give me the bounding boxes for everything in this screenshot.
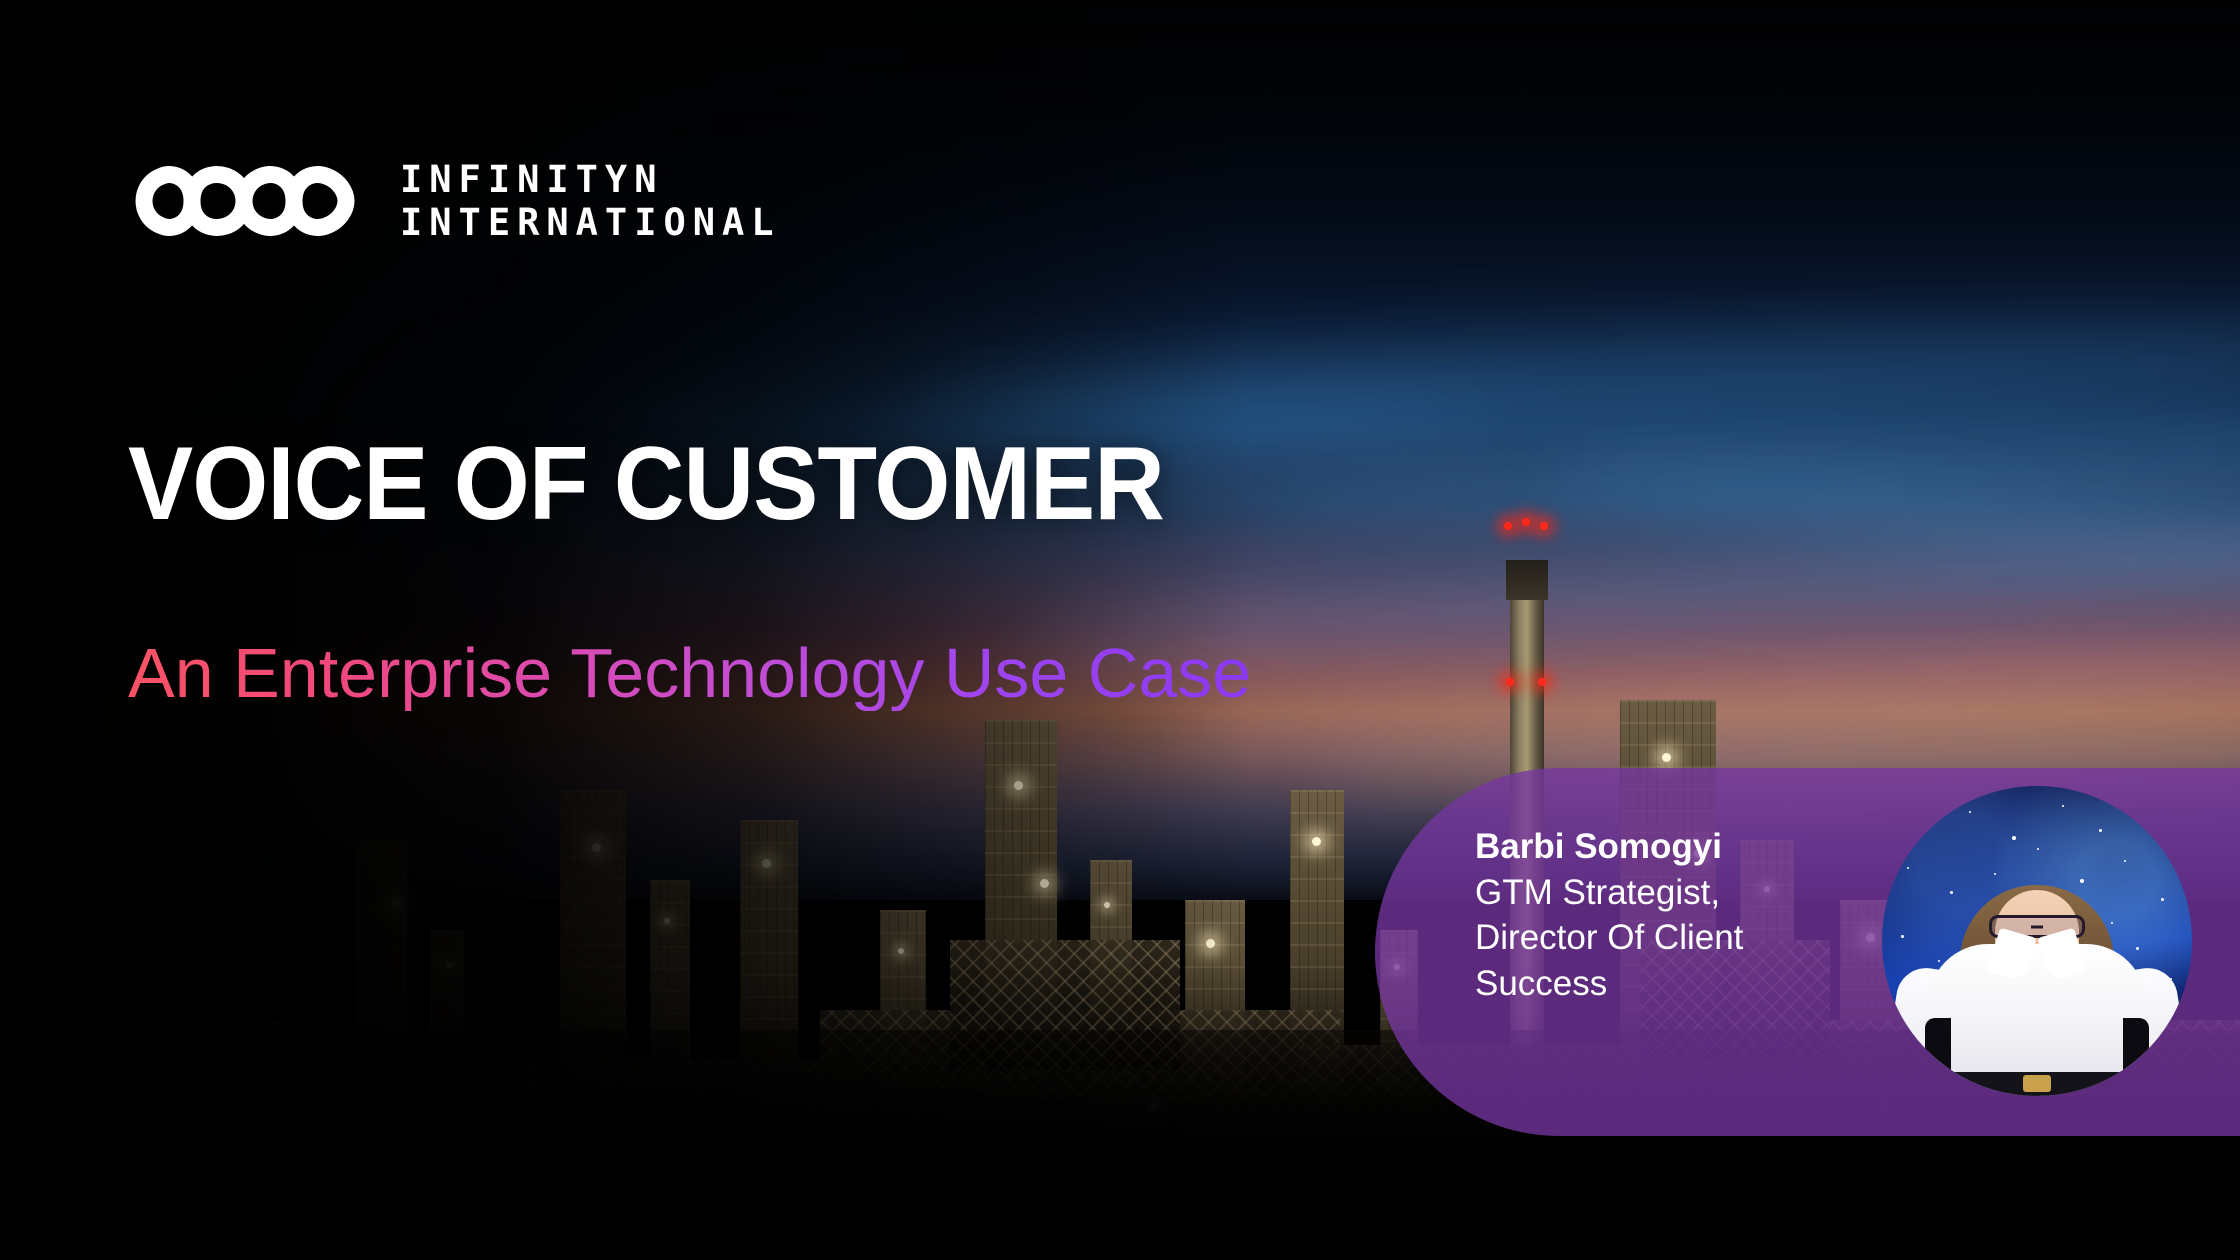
presentation-slide: INFINITYN INTERNATIONAL VOICE OF CUSTOME… — [0, 0, 2240, 1260]
aviation-light — [1540, 522, 1548, 530]
aviation-light — [1504, 522, 1512, 530]
plant-light — [1312, 837, 1321, 846]
brand-wordmark: INFINITYN INTERNATIONAL — [400, 158, 781, 245]
speaker-info: Barbi Somogyi GTM Strategist, Director O… — [1475, 824, 1875, 1006]
speaker-avatar — [1882, 786, 2192, 1096]
smokestack-cap — [1506, 560, 1548, 600]
plant-light — [1662, 753, 1671, 762]
slide-title: VOICE OF CUSTOMER — [128, 432, 1164, 536]
speaker-name: Barbi Somogyi — [1475, 824, 1875, 870]
aviation-light — [1538, 678, 1546, 686]
portrait-figure — [1882, 842, 2192, 1096]
infinity-icon — [134, 159, 356, 243]
aviation-light — [1506, 678, 1514, 686]
slide-subtitle: An Enterprise Technology Use Case — [128, 637, 1251, 711]
belt-buckle — [2023, 1075, 2051, 1092]
speaker-role: GTM Strategist, Director Of Client Succe… — [1475, 870, 1875, 1007]
brand-logo: INFINITYN INTERNATIONAL — [134, 158, 781, 245]
aviation-light — [1522, 518, 1530, 526]
